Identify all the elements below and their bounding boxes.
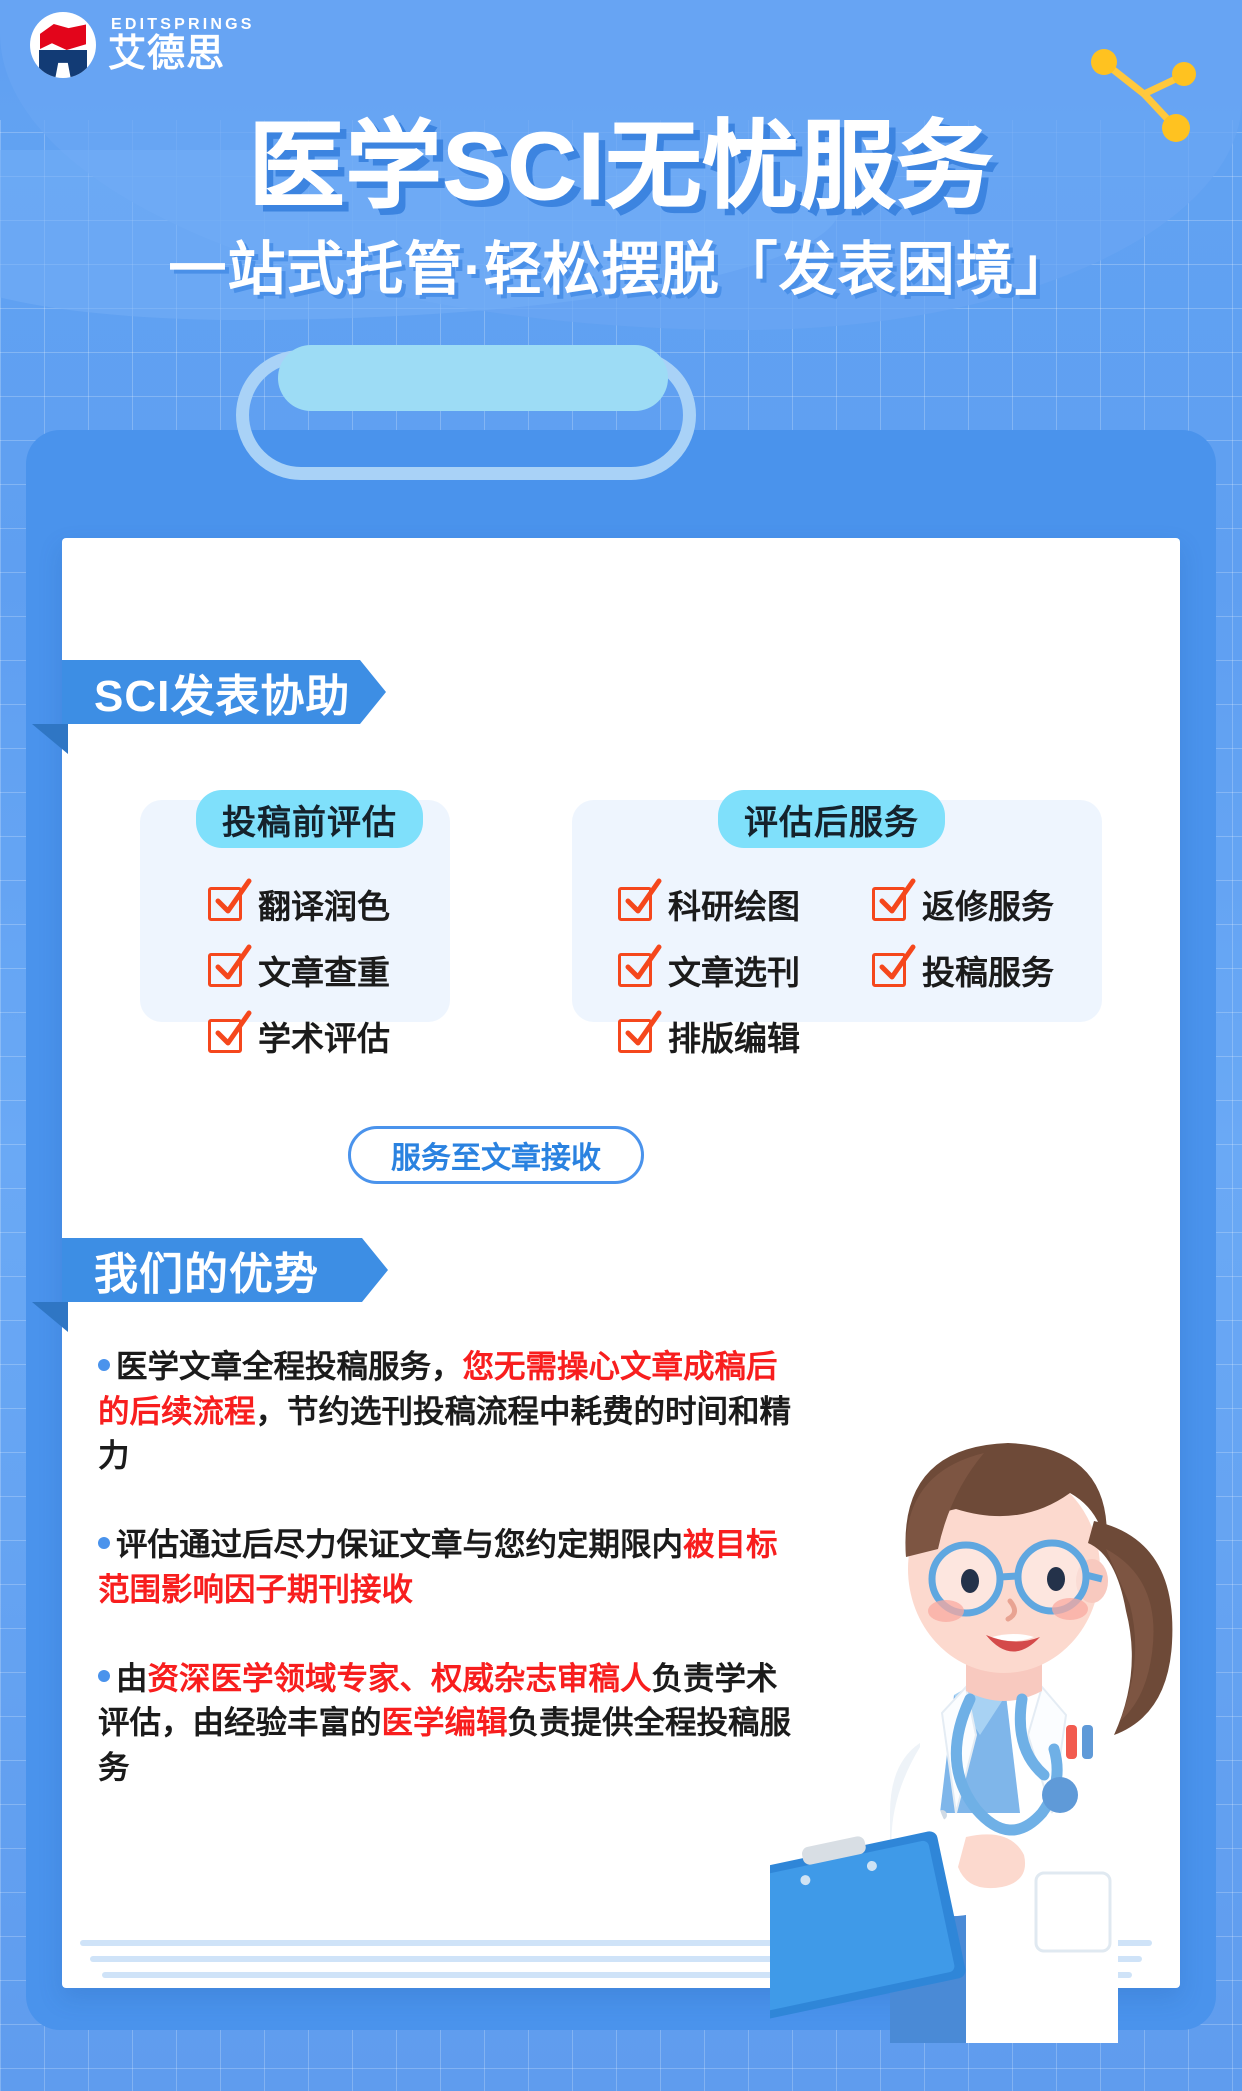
post-evaluation-badge-label: 评估后服务 [744,795,919,844]
service-item-pre-1-label: 文章查重 [258,946,390,994]
service-item-pre-2-label: 学术评估 [258,1012,390,1060]
service-until-acceptance-badge[interactable]: 服务至文章接收 [348,1126,644,1184]
post-evaluation-badge: 评估后服务 [718,790,945,848]
advantage-item-2-text: 由资深医学领域专家、权威杂志审稿人负责学术评估，由经验丰富的医学编辑负责提供全程… [98,1656,798,1790]
service-item-pre-0[interactable]: 翻译润色 [208,880,390,928]
service-item-post-3-label: 返修服务 [922,880,1054,928]
advantage-item-2: 由资深医学领域专家、权威杂志审稿人负责学术评估，由经验丰富的医学编辑负责提供全程… [98,1656,798,1790]
checkbox-checked-icon [208,1019,242,1053]
bullet-dot-icon [98,1359,110,1371]
service-item-pre-2[interactable]: 学术评估 [208,1012,390,1060]
service-item-post-2-label: 排版编辑 [668,1012,800,1060]
section-header-sci-assist: SCI发表协助 [62,660,360,724]
page-subtitle: 一站式托管·轻松摆脱「发表困境」 [0,222,1242,306]
clipboard-clip [278,345,668,411]
service-item-post-1[interactable]: 文章选刊 [618,946,800,994]
service-item-post-4[interactable]: 投稿服务 [872,946,1054,994]
doctor-illustration [770,1343,1190,2043]
checkbox-checked-icon [618,953,652,987]
brand-name-en: EDITSPRINGS [111,17,255,33]
advantages-list: 医学文章全程投稿服务，您无需操心文章成稿后的后续流程，节约选刊投稿流程中耗费的时… [98,1344,798,1834]
advantage-2-part-1: 资深医学领域专家、权威杂志审稿人 [148,1660,652,1696]
service-item-post-3[interactable]: 返修服务 [872,880,1054,928]
advantage-1-part-0: 评估通过后尽力保证文章与您约定期限内 [116,1526,683,1562]
service-item-pre-1[interactable]: 文章查重 [208,946,390,994]
checkbox-checked-icon [618,887,652,921]
service-item-post-2[interactable]: 排版编辑 [618,1012,800,1060]
advantage-0-part-0: 医学文章全程投稿服务， [116,1348,463,1384]
checkbox-checked-icon [208,887,242,921]
advantage-2-part-3: 医学编辑 [382,1704,508,1740]
bullet-dot-icon [98,1537,110,1549]
advantage-item-1-text: 评估通过后尽力保证文章与您约定期限内被目标范围影响因子期刊接收 [98,1522,798,1611]
bullet-dot-icon [98,1670,110,1682]
service-item-post-0-label: 科研绘图 [668,880,800,928]
section-title-advantages: 我们的优势 [94,1238,319,1302]
page-title: 医学SCI无忧服务 [0,88,1242,227]
advantage-2-part-0: 由 [116,1660,148,1696]
service-item-post-0[interactable]: 科研绘图 [618,880,800,928]
service-item-post-4-label: 投稿服务 [922,946,1054,994]
sail-shape [40,24,86,50]
pre-submission-badge-label: 投稿前评估 [222,795,397,844]
editsprings-sail-logo-icon [30,12,96,78]
service-until-acceptance-label: 服务至文章接收 [391,1133,601,1177]
section-title-sci-assist: SCI发表协助 [94,660,350,724]
base-shape [39,50,87,78]
brand-name-cn: 艾德思 [108,35,255,73]
advantage-item-1: 评估通过后尽力保证文章与您约定期限内被目标范围影响因子期刊接收 [98,1522,798,1611]
section-header-advantages: 我们的优势 [62,1238,362,1302]
advantage-item-0: 医学文章全程投稿服务，您无需操心文章成稿后的后续流程，节约选刊投稿流程中耗费的时… [98,1344,798,1478]
advantage-item-0-text: 医学文章全程投稿服务，您无需操心文章成稿后的后续流程，节约选刊投稿流程中耗费的时… [98,1344,798,1478]
pre-submission-badge: 投稿前评估 [196,790,423,848]
checkbox-checked-icon [208,953,242,987]
checkbox-checked-icon [618,1019,652,1053]
checkbox-checked-icon [872,887,906,921]
brand-logo-text: EDITSPRINGS 艾德思 [108,17,255,73]
service-item-post-1-label: 文章选刊 [668,946,800,994]
service-item-pre-0-label: 翻译润色 [258,880,390,928]
checkbox-checked-icon [872,953,906,987]
brand-logo: EDITSPRINGS 艾德思 [30,12,255,78]
